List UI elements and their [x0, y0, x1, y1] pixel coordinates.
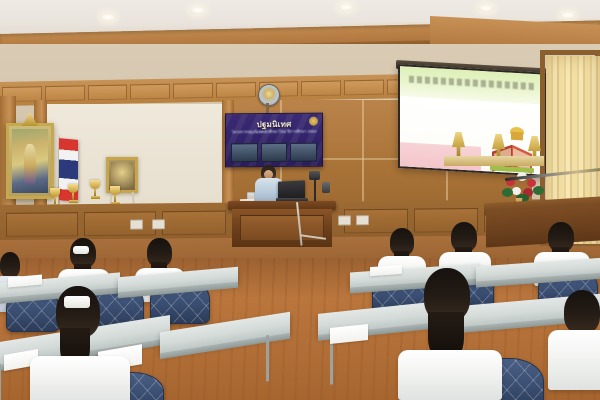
wall-outlet[interactable] — [356, 215, 369, 225]
laptop-screen — [278, 180, 305, 199]
display-shelf — [444, 156, 544, 166]
slide-title-text: การปฐมนิเทศนักศึกษาใหม่ — [409, 76, 536, 91]
downlight-icon — [478, 5, 494, 12]
wall-outlet[interactable] — [338, 215, 351, 225]
frieze-panel — [130, 83, 170, 99]
banner-photo — [290, 143, 317, 162]
person-head — [564, 290, 600, 334]
easel-portrait-image — [111, 162, 133, 188]
person-head — [0, 252, 20, 278]
trophy-icon — [68, 184, 78, 203]
trophy-icon — [110, 186, 120, 205]
frieze-panel — [88, 84, 128, 100]
microphone-icon — [322, 182, 330, 193]
downlight-icon — [560, 12, 576, 19]
banner-logo-icon — [309, 117, 318, 126]
downlight-icon — [338, 4, 354, 11]
hair-bow — [73, 246, 89, 254]
frieze-panel — [45, 85, 85, 101]
flower-leaf — [533, 186, 544, 195]
flower-leaf — [502, 188, 513, 197]
royal-portrait-image — [12, 129, 48, 193]
flower-arrangement — [500, 168, 544, 202]
downlight-icon — [100, 14, 116, 21]
banner-photo — [231, 143, 258, 162]
stage-banner: ปฐมนิเทศ โครงการปฐมนิเทศนักศึกษาใหม่ ปีก… — [225, 113, 323, 168]
wall-outlet[interactable] — [152, 219, 165, 229]
wainscot-panel — [84, 211, 156, 236]
person-torso — [30, 356, 130, 400]
panel-joint — [362, 100, 364, 212]
person-torso — [548, 330, 600, 390]
royal-portrait-frame — [6, 123, 54, 199]
microphone-stand — [314, 178, 316, 202]
wall-outlet[interactable] — [130, 220, 143, 230]
photo-canvas: การปฐมนิเทศนักศึกษาใหม่ ปฐมนิเทศ โครงการ… — [0, 0, 600, 400]
hair-bow — [64, 296, 90, 308]
trophy-icon — [90, 180, 100, 199]
banner-photo-strip — [231, 143, 317, 163]
banner-photo — [261, 143, 288, 162]
wainscot-panel — [6, 212, 78, 237]
downlight-icon — [190, 7, 206, 14]
side-table-front — [486, 205, 600, 248]
frieze-panel — [173, 82, 213, 98]
institution-seal-icon — [258, 84, 280, 106]
person-torso — [398, 350, 502, 400]
podium-desk-front — [232, 209, 332, 247]
banner-subtitle: โครงการปฐมนิเทศนักศึกษาใหม่ ปีการศึกษา 2… — [231, 129, 317, 135]
wainscot-panel — [162, 211, 226, 236]
frieze-panel — [216, 82, 256, 98]
frieze-panel — [301, 80, 341, 96]
portrait-figure — [24, 144, 36, 184]
frieze-panel — [344, 79, 384, 95]
